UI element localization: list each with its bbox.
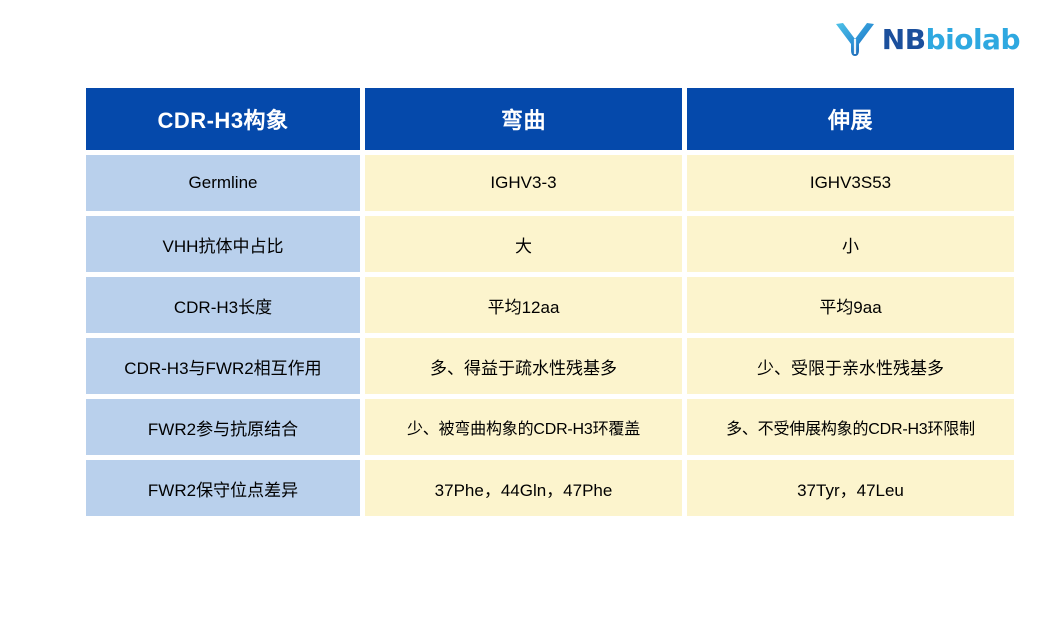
cell-bent: 少、被弯曲构象的CDR-H3环覆盖 (365, 399, 682, 455)
brand-name-biolab: biolab (926, 23, 1020, 56)
column-header-attribute: CDR-H3构象 (86, 88, 360, 150)
cell-extended: 多、不受伸展构象的CDR-H3环限制 (687, 399, 1014, 455)
brand-wordmark: NBbiolab (882, 26, 1020, 54)
table-row: VHH抗体中占比 大 小 (86, 216, 1014, 272)
table-row: CDR-H3长度 平均12aa 平均9aa (86, 277, 1014, 333)
cell-bent: 37Phe，44Gln，47Phe (365, 460, 682, 516)
brand-logo: NBbiolab (834, 18, 1020, 62)
row-label: VHH抗体中占比 (86, 216, 360, 272)
row-label: CDR-H3长度 (86, 277, 360, 333)
cell-extended: IGHV3S53 (687, 155, 1014, 211)
cell-bent: 大 (365, 216, 682, 272)
cdr-h3-conformation-table: CDR-H3构象 弯曲 伸展 Germline IGHV3-3 IGHV3S53… (81, 83, 1019, 521)
cell-extended: 平均9aa (687, 277, 1014, 333)
table-row: Germline IGHV3-3 IGHV3S53 (86, 155, 1014, 211)
row-label: Germline (86, 155, 360, 211)
column-header-extended: 伸展 (687, 88, 1014, 150)
table-header-row: CDR-H3构象 弯曲 伸展 (86, 88, 1014, 150)
cell-extended: 少、受限于亲水性残基多 (687, 338, 1014, 394)
cell-bent: IGHV3-3 (365, 155, 682, 211)
table-row: CDR-H3与FWR2相互作用 多、得益于疏水性残基多 少、受限于亲水性残基多 (86, 338, 1014, 394)
cell-extended: 小 (687, 216, 1014, 272)
table-row: FWR2参与抗原结合 少、被弯曲构象的CDR-H3环覆盖 多、不受伸展构象的CD… (86, 399, 1014, 455)
row-label: FWR2参与抗原结合 (86, 399, 360, 455)
cell-extended: 37Tyr，47Leu (687, 460, 1014, 516)
antibody-y-icon (834, 20, 876, 60)
row-label: CDR-H3与FWR2相互作用 (86, 338, 360, 394)
column-header-bent: 弯曲 (365, 88, 682, 150)
cell-bent: 平均12aa (365, 277, 682, 333)
cell-bent: 多、得益于疏水性残基多 (365, 338, 682, 394)
brand-name-nb: NB (882, 23, 926, 56)
comparison-table-container: CDR-H3构象 弯曲 伸展 Germline IGHV3-3 IGHV3S53… (86, 88, 974, 516)
table-row: FWR2保守位点差异 37Phe，44Gln，47Phe 37Tyr，47Leu (86, 460, 1014, 516)
row-label: FWR2保守位点差异 (86, 460, 360, 516)
